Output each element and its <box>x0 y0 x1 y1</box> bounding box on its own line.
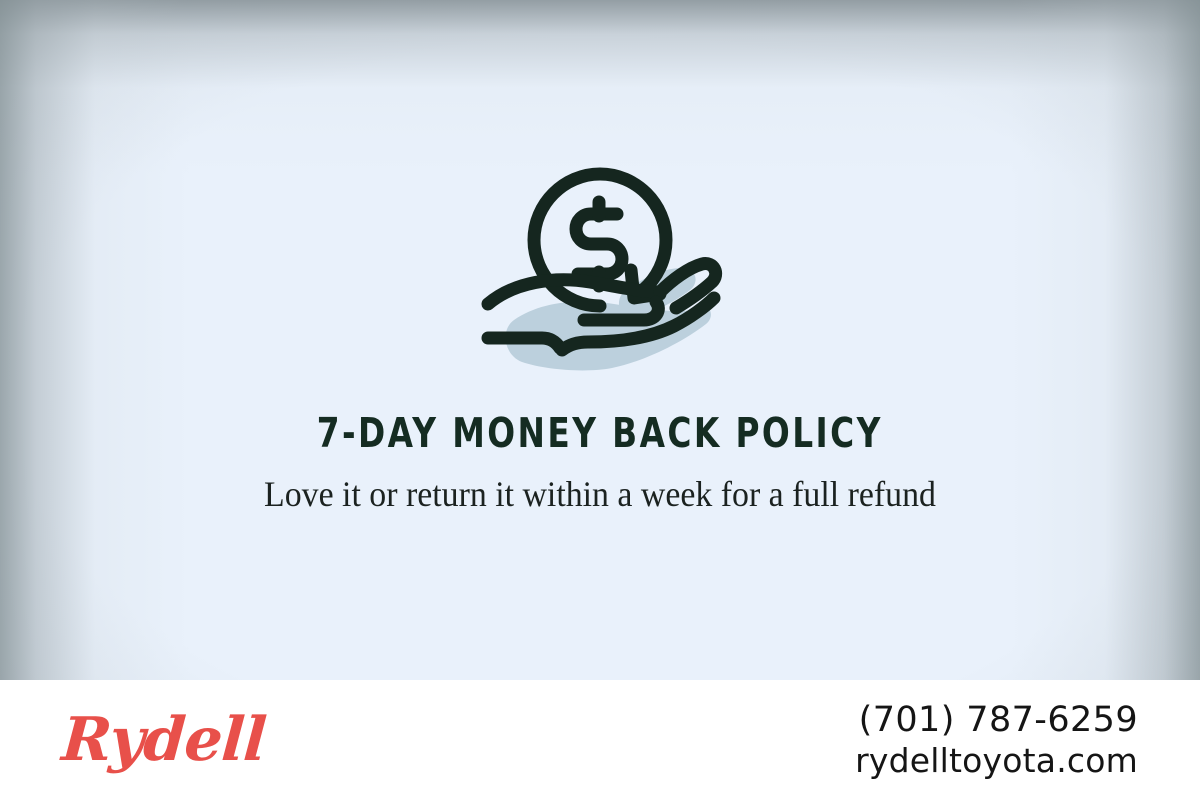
contact-website[interactable]: rydelltoyota.com <box>855 741 1138 781</box>
dollar-sign-icon <box>576 202 622 286</box>
page-subtitle: Love it or return it within a week for a… <box>243 471 957 519</box>
contact-block: (701) 787-6259 rydelltoyota.com <box>855 699 1138 782</box>
footer-bar: Rydell (701) 787-6259 rydelltoyota.com <box>0 680 1200 800</box>
contact-phone[interactable]: (701) 787-6259 <box>859 699 1138 742</box>
brand-logo[interactable]: Rydell <box>60 710 268 770</box>
money-back-hand-icon <box>470 148 730 388</box>
money-back-hand-icon-svg <box>474 152 726 384</box>
hero-content: 7-DAY MONEY BACK POLICY Love it or retur… <box>0 0 1200 680</box>
hero-panel: 7-DAY MONEY BACK POLICY Love it or retur… <box>0 0 1200 680</box>
page-title: 7-DAY MONEY BACK POLICY <box>317 412 883 455</box>
promo-card: 7-DAY MONEY BACK POLICY Love it or retur… <box>0 0 1200 800</box>
